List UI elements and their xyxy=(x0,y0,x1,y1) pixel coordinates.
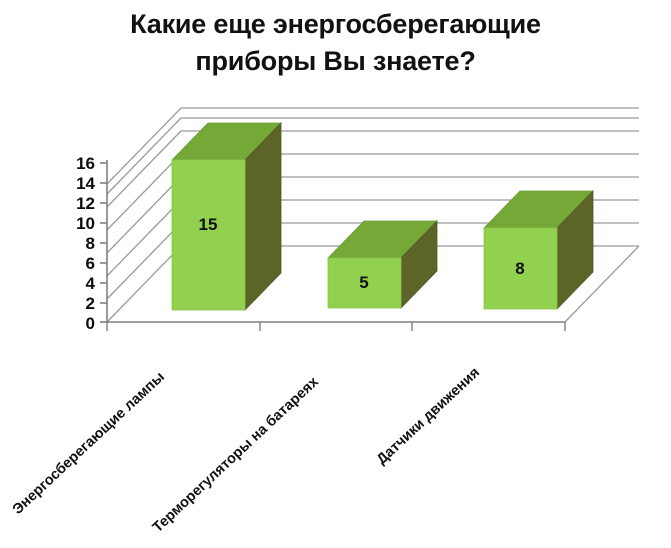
chart-plot-area: 0 2 4 6 8 10 12 14 16 xyxy=(0,0,671,548)
bar-2-value-label: 5 xyxy=(359,273,368,292)
y-axis-tick-labels: 0 2 4 6 8 10 12 14 16 xyxy=(76,154,95,333)
bar-group-2[interactable]: 5 xyxy=(328,221,437,308)
bar-group-1[interactable]: 15 xyxy=(172,123,281,310)
y-tick-label: 8 xyxy=(86,234,95,253)
y-tick-label: 6 xyxy=(86,254,95,273)
chart-container: Какие еще энергосберегающие приборы Вы з… xyxy=(0,0,671,548)
y-tick-label: 4 xyxy=(86,274,96,293)
bar-1-front-face xyxy=(172,160,245,310)
y-tick-label: 14 xyxy=(76,174,95,193)
gridlines-depth-connectors xyxy=(107,118,181,322)
x-category-label-1: Энергосберегающие лампы xyxy=(10,369,168,518)
x-category-label-2: Терморегуляторы на батареях xyxy=(150,374,322,536)
y-tick-label: 16 xyxy=(76,154,95,173)
bar-group-3[interactable]: 8 xyxy=(484,191,593,309)
bar-1-value-label: 15 xyxy=(199,215,218,234)
y-tick-label: 2 xyxy=(86,294,95,313)
y-tick-label: 12 xyxy=(76,194,95,213)
x-axis-category-labels: Энергосберегающие лампы Терморегуляторы … xyxy=(10,365,483,536)
bar-3-value-label: 8 xyxy=(515,259,524,278)
y-tick-label: 10 xyxy=(76,214,95,233)
y-tick-label: 0 xyxy=(86,314,95,333)
x-category-label-3: Датчики движения xyxy=(374,365,483,468)
y-axis xyxy=(100,160,107,323)
